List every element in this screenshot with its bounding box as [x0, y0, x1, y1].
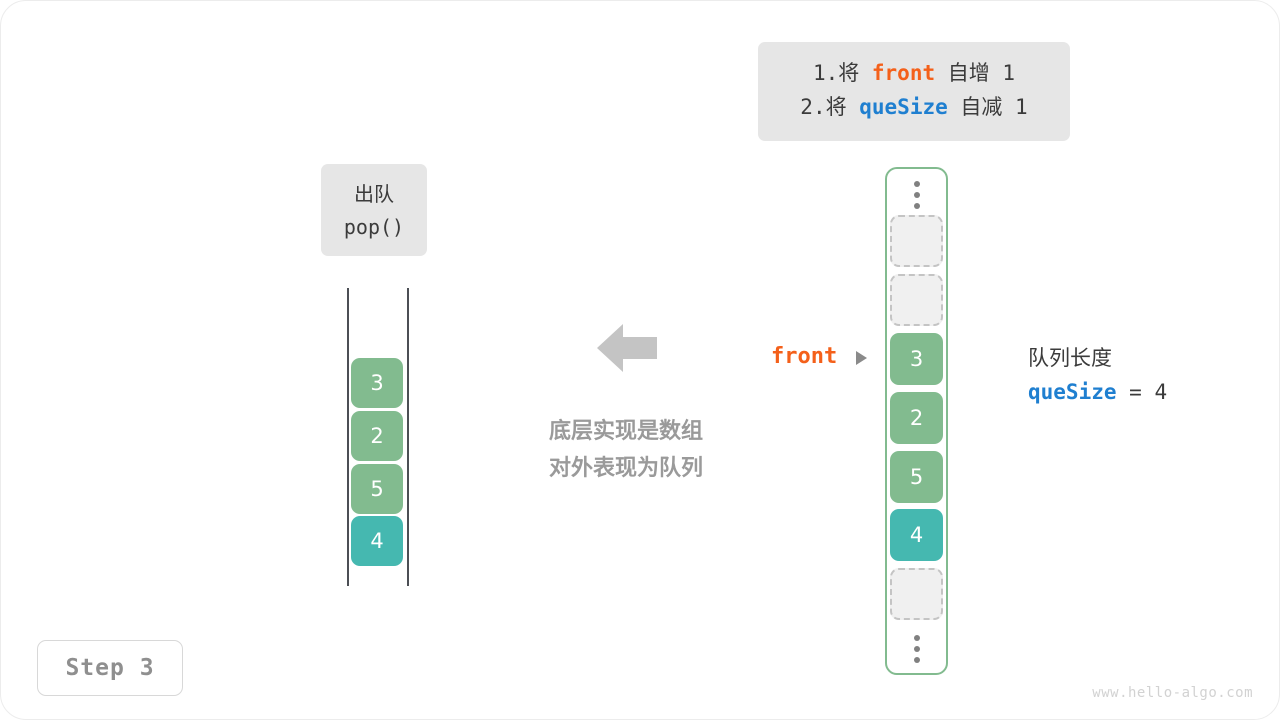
- queue-size-title: 队列长度: [1028, 342, 1167, 374]
- queue-rail-right: [407, 288, 409, 586]
- quesize-keyword: queSize: [859, 95, 948, 119]
- queue-cell: 2: [351, 411, 403, 461]
- queue-rail-left: [347, 288, 349, 586]
- queue-cell: 3: [351, 358, 403, 408]
- front-pointer-triangle-icon: [856, 351, 867, 365]
- array-cell: [890, 274, 943, 326]
- array-cell: 2: [890, 392, 943, 444]
- left-arrow-icon: [597, 322, 657, 374]
- queue-cell: 5: [351, 464, 403, 514]
- instruction-line-1: 1.将 front 自增 1: [758, 56, 1070, 90]
- quesize-variable: queSize: [1028, 380, 1117, 404]
- array-cell: 3: [890, 333, 943, 385]
- step-badge: Step 3: [37, 640, 183, 696]
- instruction-verb-1: 将: [838, 61, 872, 85]
- front-keyword: front: [872, 61, 935, 85]
- queue-cell: 4: [351, 516, 403, 566]
- caption-line-1: 底层实现是数组: [501, 413, 751, 450]
- array-cell: [890, 215, 943, 267]
- array-cell: 4: [890, 509, 943, 561]
- instruction-index-1: 1.: [813, 61, 838, 85]
- pop-operation-box: 出队 pop(): [321, 164, 427, 256]
- pop-title: 出队: [321, 178, 427, 211]
- step-badge-label: Step 3: [65, 655, 154, 681]
- diagram-caption: 底层实现是数组 对外表现为队列: [501, 413, 751, 487]
- diagram-canvas: 1.将 front 自增 1 2.将 queSize 自减 1 出队 pop()…: [0, 0, 1280, 720]
- instruction-tail-2: 自减 1: [948, 95, 1028, 119]
- array-cell: [890, 568, 943, 620]
- queue-size-expression: queSize = 4: [1028, 374, 1167, 410]
- queue-size-info: 队列长度 queSize = 4: [1028, 342, 1167, 410]
- instruction-line-2: 2.将 queSize 自减 1: [758, 90, 1070, 124]
- watermark: www.hello-algo.com: [1092, 685, 1253, 701]
- ellipsis-bottom-icon: [909, 635, 924, 663]
- instruction-verb-2: 将: [826, 95, 860, 119]
- instruction-tail-1: 自增 1: [935, 61, 1015, 85]
- quesize-value: 4: [1154, 380, 1167, 404]
- front-pointer-label: front: [771, 344, 837, 369]
- ellipsis-top-icon: [909, 181, 924, 209]
- array-cell: 5: [890, 451, 943, 503]
- quesize-equals: =: [1117, 380, 1155, 404]
- caption-line-2: 对外表现为队列: [501, 450, 751, 487]
- instruction-index-2: 2.: [800, 95, 825, 119]
- pop-method: pop(): [321, 211, 427, 244]
- instruction-note: 1.将 front 自增 1 2.将 queSize 自减 1: [758, 42, 1070, 141]
